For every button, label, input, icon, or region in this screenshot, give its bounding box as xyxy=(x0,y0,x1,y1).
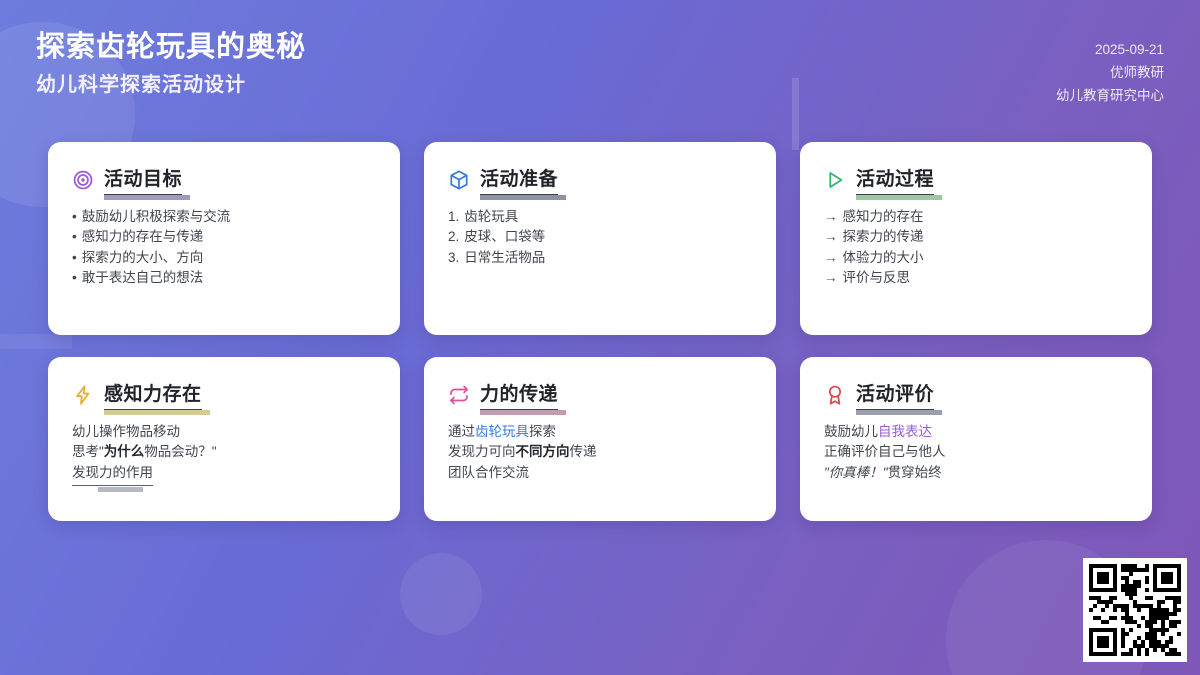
title-block: 探索齿轮玩具的奥秘 幼儿科学探索活动设计 xyxy=(36,28,306,100)
list-item-text: 正确评价自己与他人 xyxy=(824,444,946,459)
list-item: 发现力可向不同方向传递 xyxy=(448,442,752,462)
list-item-text: •敢于表达自己的想法 xyxy=(72,270,203,285)
card-title: 活动评价 xyxy=(856,379,934,410)
cube-icon xyxy=(448,169,470,191)
card-body: 鼓励幼儿自我表达正确评价自己与他人"你真棒！"贯穿始终 xyxy=(824,422,1128,483)
list-item: →评价与反思 xyxy=(824,268,1128,288)
list-marker: → xyxy=(824,229,838,244)
target-icon xyxy=(72,169,94,191)
card-body: •鼓励幼儿积极探索与交流•感知力的存在与传递•探索力的大小、方向•敢于表达自己的… xyxy=(72,207,376,288)
list-marker: 1. xyxy=(448,209,459,224)
list-item: →探索力的传递 xyxy=(824,227,1128,247)
card-header: 活动评价 xyxy=(824,379,1128,410)
lightning-icon xyxy=(72,384,94,406)
qr-code[interactable] xyxy=(1083,558,1187,662)
list-item-text: 思考"为什么物品会动？" xyxy=(72,444,217,459)
list-marker: → xyxy=(824,270,838,285)
list-item-text: 团队合作交流 xyxy=(448,465,529,480)
slide-header: 探索齿轮玩具的奥秘 幼儿科学探索活动设计 2025-09-21 优师教研 幼儿教… xyxy=(0,0,1200,130)
list-marker: 3. xyxy=(448,250,459,265)
list-marker: • xyxy=(72,250,77,265)
list-item-text: 鼓励幼儿自我表达 xyxy=(824,424,932,439)
page-subtitle: 幼儿科学探索活动设计 xyxy=(36,70,306,100)
meta-org: 优师教研 xyxy=(1056,61,1164,84)
decorative-circle-bottom-left xyxy=(400,553,482,635)
card-header: 活动目标 xyxy=(72,164,376,195)
list-marker: 2. xyxy=(448,229,459,244)
list-item-text: •鼓励幼儿积极探索与交流 xyxy=(72,209,230,224)
card-body: 幼儿操作物品移动思考"为什么物品会动？"发现力的作用 xyxy=(72,422,376,500)
list-item-text: •感知力的存在与传递 xyxy=(72,229,203,244)
card-title: 活动目标 xyxy=(104,164,182,195)
card-activity-process[interactable]: 活动过程→感知力的存在→探索力的传递→体验力的大小→评价与反思 xyxy=(800,142,1152,335)
card-title: 活动过程 xyxy=(856,164,934,195)
card-activity-goals[interactable]: 活动目标•鼓励幼儿积极探索与交流•感知力的存在与传递•探索力的大小、方向•敢于表… xyxy=(48,142,400,335)
list-item: •敢于表达自己的想法 xyxy=(72,268,376,288)
slide-canvas: 探索齿轮玩具的奥秘 幼儿科学探索活动设计 2025-09-21 优师教研 幼儿教… xyxy=(0,0,1200,675)
list-item: →体验力的大小 xyxy=(824,248,1128,268)
card-title: 活动准备 xyxy=(480,164,558,195)
list-marker: • xyxy=(72,209,77,224)
award-icon xyxy=(824,384,846,406)
list-item: 团队合作交流 xyxy=(448,463,752,483)
list-item-text: 通过齿轮玩具探索 xyxy=(448,424,556,439)
list-marker: • xyxy=(72,229,77,244)
list-item-text: →探索力的传递 xyxy=(824,229,924,244)
list-item: •鼓励幼儿积极探索与交流 xyxy=(72,207,376,227)
card-title: 力的传递 xyxy=(480,379,558,410)
card-grid: 活动目标•鼓励幼儿积极探索与交流•感知力的存在与传递•探索力的大小、方向•敢于表… xyxy=(48,142,1152,521)
card-activity-preparation[interactable]: 活动准备1.齿轮玩具2.皮球、口袋等3.日常生活物品 xyxy=(424,142,776,335)
list-item: 发现力的作用 xyxy=(72,463,376,500)
card-header: 活动过程 xyxy=(824,164,1128,195)
card-force-perception[interactable]: 感知力存在幼儿操作物品移动思考"为什么物品会动？"发现力的作用 xyxy=(48,357,400,521)
list-item: 幼儿操作物品移动 xyxy=(72,422,376,442)
list-item-text: →感知力的存在 xyxy=(824,209,924,224)
card-force-transfer[interactable]: 力的传递通过齿轮玩具探索发现力可向不同方向传递团队合作交流 xyxy=(424,357,776,521)
list-item: 3.日常生活物品 xyxy=(448,248,752,268)
list-item: •感知力的存在与传递 xyxy=(72,227,376,247)
list-item-text: 3.日常生活物品 xyxy=(448,250,545,265)
meta-center: 幼儿教育研究中心 xyxy=(1056,84,1164,107)
list-item-text: 2.皮球、口袋等 xyxy=(448,229,545,244)
play-icon xyxy=(824,169,846,191)
card-body: 1.齿轮玩具2.皮球、口袋等3.日常生活物品 xyxy=(448,207,752,268)
card-header: 力的传递 xyxy=(448,379,752,410)
list-marker: → xyxy=(824,209,838,224)
card-body: 通过齿轮玩具探索发现力可向不同方向传递团队合作交流 xyxy=(448,422,752,483)
list-item-text: 发现力的作用 xyxy=(72,463,153,486)
card-header: 感知力存在 xyxy=(72,379,376,410)
header-meta: 2025-09-21 优师教研 幼儿教育研究中心 xyxy=(1056,28,1164,108)
list-item: 正确评价自己与他人 xyxy=(824,442,1128,462)
list-item: 通过齿轮玩具探索 xyxy=(448,422,752,442)
list-item-text: "你真棒！"贯穿始终 xyxy=(824,465,942,480)
list-item-text: 1.齿轮玩具 xyxy=(448,209,518,224)
list-item-text: •探索力的大小、方向 xyxy=(72,250,203,265)
list-item: 鼓励幼儿自我表达 xyxy=(824,422,1128,442)
list-marker: → xyxy=(824,250,838,265)
qr-code-image xyxy=(1089,564,1181,656)
list-item: "你真棒！"贯穿始终 xyxy=(824,463,1128,483)
meta-date: 2025-09-21 xyxy=(1056,38,1164,61)
list-item: →感知力的存在 xyxy=(824,207,1128,227)
card-body: →感知力的存在→探索力的传递→体验力的大小→评价与反思 xyxy=(824,207,1128,288)
card-header: 活动准备 xyxy=(448,164,752,195)
list-item-text: →评价与反思 xyxy=(824,270,910,285)
list-item-text: 幼儿操作物品移动 xyxy=(72,424,180,439)
repeat-icon xyxy=(448,384,470,406)
card-activity-evaluation[interactable]: 活动评价鼓励幼儿自我表达正确评价自己与他人"你真棒！"贯穿始终 xyxy=(800,357,1152,521)
list-marker: • xyxy=(72,270,77,285)
list-item: 2.皮球、口袋等 xyxy=(448,227,752,247)
list-item-text: →体验力的大小 xyxy=(824,250,924,265)
list-item-text: 发现力可向不同方向传递 xyxy=(448,444,597,459)
card-title: 感知力存在 xyxy=(104,379,202,410)
list-item: 思考"为什么物品会动？" xyxy=(72,442,376,462)
list-item: •探索力的大小、方向 xyxy=(72,248,376,268)
list-item: 1.齿轮玩具 xyxy=(448,207,752,227)
page-title: 探索齿轮玩具的奥秘 xyxy=(36,28,306,67)
